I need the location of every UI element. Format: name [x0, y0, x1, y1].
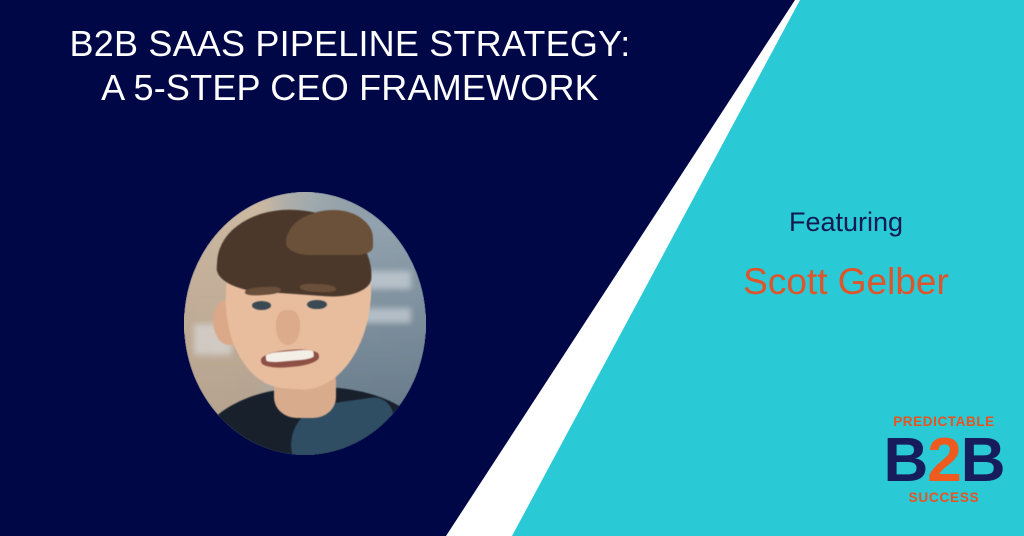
webinar-title-slide: B2B SAAS PIPELINE STRATEGY: A 5-STEP CEO…: [0, 0, 1024, 536]
speaker-name: Scott Gelber: [686, 260, 1006, 304]
logo-letter-b-left: B: [883, 426, 927, 495]
logo-letter-b-right: B: [961, 426, 1005, 495]
slide-title: B2B SAAS PIPELINE STRATEGY: A 5-STEP CEO…: [0, 22, 700, 110]
featuring-label: Featuring: [686, 206, 1006, 238]
logo-wordmark: B2B: [876, 428, 1012, 494]
speaker-portrait: [184, 192, 426, 455]
predictable-b2b-success-logo: PREDICTABLE B2B SUCCESS: [876, 414, 1012, 530]
logo-digit-two: 2: [927, 426, 960, 495]
portrait-artwork: [184, 192, 426, 455]
portrait-soft-focus-overlay: [184, 192, 426, 455]
